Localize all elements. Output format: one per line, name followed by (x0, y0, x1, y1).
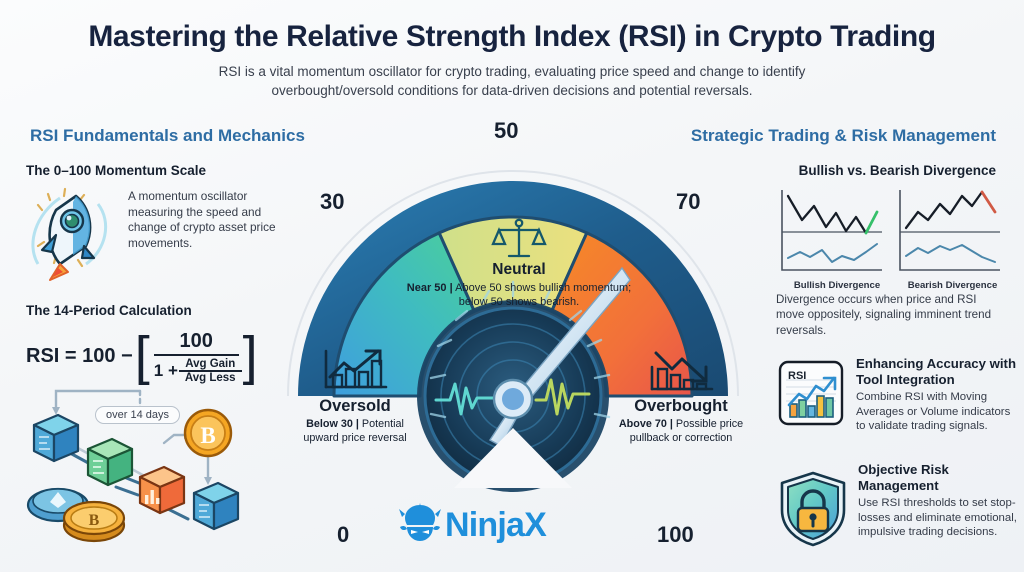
zone-overbought-desc: Above 70 | Possible price pullback or co… (616, 418, 746, 445)
formula-avg-gain: Avg Gain (182, 358, 238, 370)
rsi-icon-label: RSI (788, 370, 806, 382)
tool-integration-title: Enhancing Accuracy with Tool Integration (856, 356, 1021, 388)
calculation-title: The 14-Period Calculation (26, 303, 192, 318)
zone-neutral-detail: Above 50 shows bullish momentum; below 5… (455, 282, 631, 308)
divergence-body: Divergence occurs when price and RSI mov… (776, 292, 998, 338)
brand-logo: NinjaX (398, 503, 546, 547)
formula-lhs: RSI = 100 − (26, 345, 133, 368)
divergence-charts (776, 186, 1006, 276)
divergence-title: Bullish vs. Bearish Divergence (799, 163, 996, 178)
bitcoin-coin-icon: B (185, 410, 231, 456)
rsi-chart-icon: RSI (778, 360, 844, 426)
formula-avg-less: Avg Less (182, 372, 239, 384)
bearish-divergence-label: Bearish Divergence (900, 280, 1005, 291)
formula-den-one: 1 + (154, 361, 178, 381)
rocket-icon (20, 180, 120, 285)
rsi-gauge (268, 128, 758, 528)
gauge-label-70: 70 (676, 189, 700, 215)
section-header-fundamentals: RSI Fundamentals and Mechanics (30, 126, 305, 146)
bullish-divergence-chart (782, 190, 882, 270)
zone-oversold-name: Oversold (296, 397, 414, 416)
tool-integration-body: Combine RSI with Moving Averages or Volu… (856, 390, 1021, 434)
zone-oversold-desc: Below 30 | Potential upward price revers… (296, 418, 414, 445)
zone-overbought-text: Overbought Above 70 | Possible price pul… (616, 347, 746, 445)
chart-down-arrow-icon (644, 347, 718, 395)
zone-oversold-text: Oversold Below 30 | Potential upward pri… (296, 347, 414, 445)
ninja-helmet-icon (398, 503, 442, 547)
momentum-scale-body: A momentum oscillator measuring the spee… (128, 189, 280, 251)
zone-neutral-text: Neutral Near 50 | Above 50 shows bullish… (404, 218, 634, 309)
bracket-open-icon: [ (135, 337, 150, 376)
risk-management-title: Objective Risk Management (858, 462, 1023, 494)
bullish-divergence-label: Bullish Divergence (787, 280, 887, 291)
page-title: Mastering the Relative Strength Index (R… (0, 20, 1024, 54)
bracket-close-icon: ] (243, 337, 258, 376)
zone-neutral-threshold: Near 50 | (407, 282, 453, 294)
momentum-scale-title: The 0–100 Momentum Scale (26, 163, 206, 178)
page-subtitle: RSI is a vital momentum oscillator for c… (180, 62, 844, 100)
risk-management-body: Use RSI thresholds to set stop-losses an… (858, 496, 1024, 540)
svg-text:B: B (89, 512, 100, 529)
bearish-divergence-chart (900, 190, 1000, 270)
brand-name: NinjaX (445, 506, 546, 545)
zone-overbought-threshold: Above 70 | (619, 418, 673, 430)
over-14-days-pill: over 14 days (95, 406, 180, 424)
gauge-label-0: 0 (337, 522, 349, 548)
svg-text:B: B (200, 423, 215, 448)
shield-lock-icon (778, 470, 848, 548)
zone-oversold-threshold: Below 30 | (306, 418, 359, 430)
gauge-label-30: 30 (320, 189, 344, 215)
balance-scale-icon (491, 218, 547, 260)
zone-neutral-desc: Near 50 | Above 50 shows bullish momentu… (404, 281, 634, 309)
zone-overbought-name: Overbought (616, 397, 746, 416)
zone-neutral-name: Neutral (404, 261, 634, 279)
gauge-label-50: 50 (494, 118, 518, 144)
gauge-label-100: 100 (657, 522, 694, 548)
bitcoin-coin-stack-icon: B (64, 502, 124, 541)
rsi-formula: RSI = 100 − [ 100 1 + Avg Gain Avg Less … (26, 330, 260, 384)
formula-numerator: 100 (169, 330, 222, 354)
chart-up-arrow-icon (318, 347, 392, 395)
infographic-page: Mastering the Relative Strength Index (R… (0, 0, 1024, 572)
